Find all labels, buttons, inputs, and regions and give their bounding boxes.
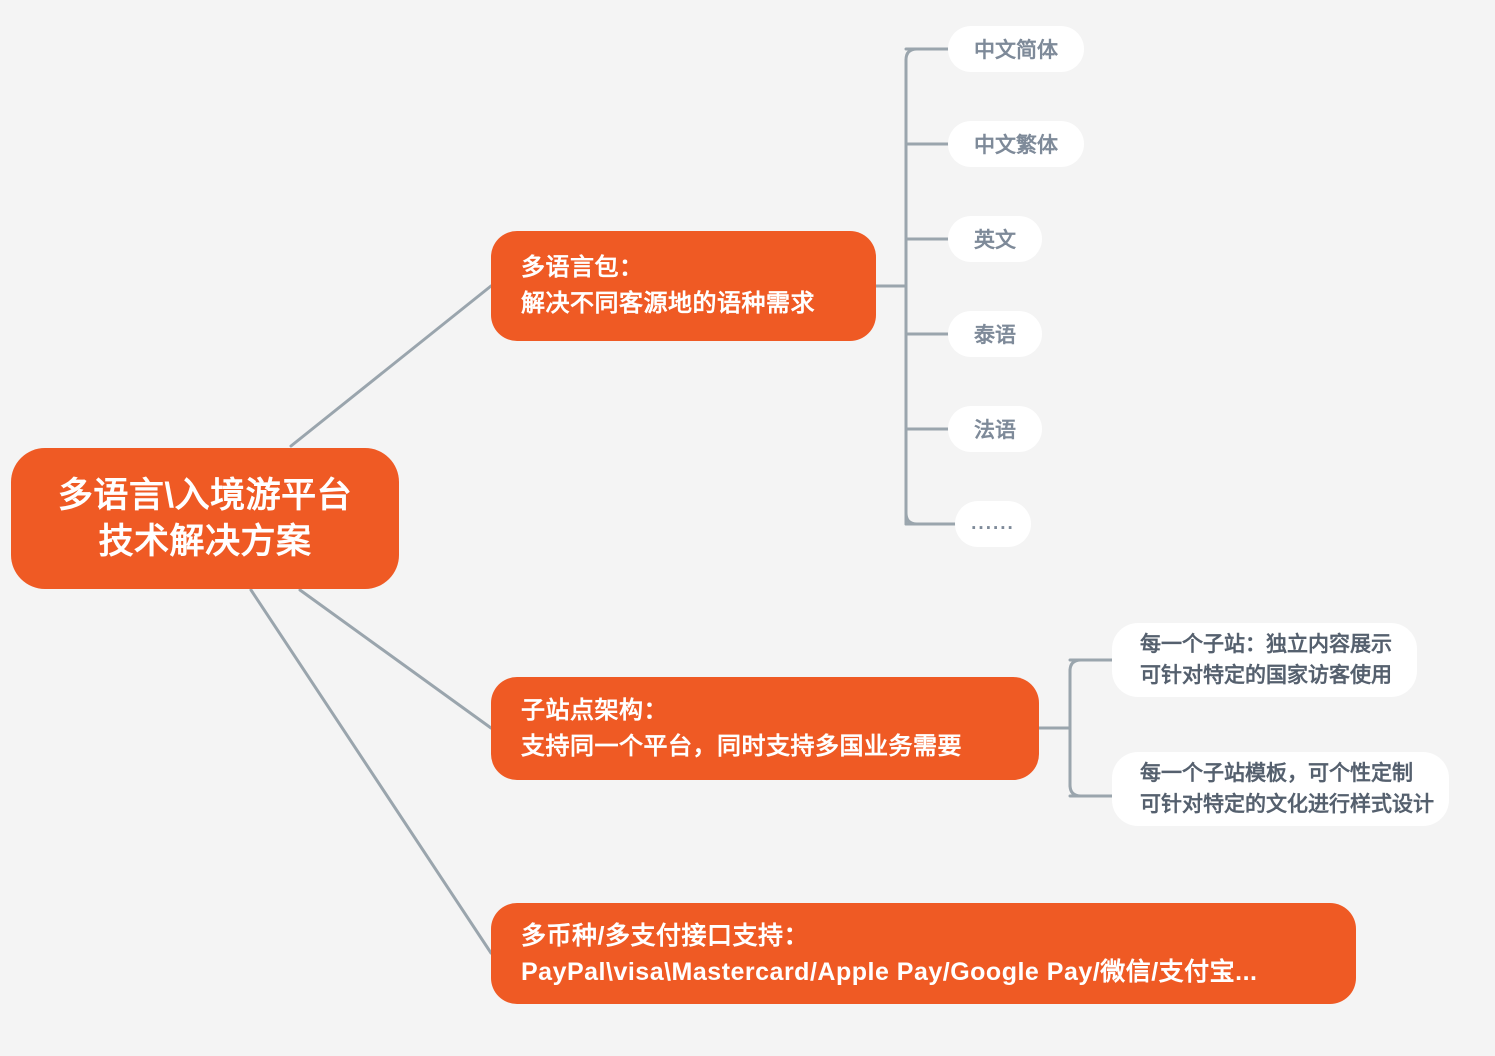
leaf-language-4-label: 泰语 (974, 319, 1016, 349)
leaf-language-6-label: ...... (971, 513, 1015, 535)
branch-node-payment[interactable]: 多币种/多支付接口支持： PayPal\visa\Mastercard/Appl… (491, 903, 1356, 1004)
root-node[interactable]: 多语言\入境游平台 技术解决方案 (11, 448, 399, 589)
edge-root-to-subsite (300, 590, 491, 728)
root-title-line2: 技术解决方案 (98, 519, 311, 565)
edge-languages-trunk-bottom (906, 513, 917, 524)
branch-payment-line1: 多币种/多支付接口支持： (521, 918, 1326, 954)
leaf-language-1-label: 中文简体 (974, 34, 1058, 64)
leaf-subsite-card-2-line1: 每一个子站模板，可个性定制 (1140, 758, 1421, 789)
branch-node-languages[interactable]: 多语言包： 解决不同客源地的语种需求 (491, 231, 876, 341)
leaf-subsite-card-2[interactable]: 每一个子站模板，可个性定制 可针对特定的文化进行样式设计 (1112, 752, 1449, 826)
edge-subsite-trunk-bottom (1070, 785, 1081, 796)
branch-languages-line1: 多语言包： (521, 250, 846, 286)
branch-languages-line2: 解决不同客源地的语种需求 (521, 286, 846, 322)
edge-languages-trunk-top (906, 49, 917, 60)
leaf-language-6[interactable]: ...... (955, 501, 1031, 547)
branch-subsite-line2: 支持同一个平台，同时支持多国业务需要 (521, 729, 1009, 765)
mindmap-canvas: 多语言\入境游平台 技术解决方案 多语言包： 解决不同客源地的语种需求 中文简体… (0, 0, 1495, 1056)
leaf-language-2-label: 中文繁体 (974, 129, 1058, 159)
branch-payment-line2: PayPal\visa\Mastercard/Apple Pay/Google … (521, 954, 1326, 990)
branch-node-subsite[interactable]: 子站点架构： 支持同一个平台，同时支持多国业务需要 (491, 677, 1039, 780)
branch-subsite-line1: 子站点架构： (521, 693, 1009, 729)
edge-subsite-trunk-top (1070, 660, 1081, 671)
leaf-language-2[interactable]: 中文繁体 (948, 121, 1084, 167)
edge-root-to-payment (251, 590, 491, 953)
leaf-language-5[interactable]: 法语 (948, 406, 1042, 452)
leaf-subsite-card-1[interactable]: 每一个子站：独立内容展示 可针对特定的国家访客使用 (1112, 623, 1417, 697)
edge-root-to-languages (291, 286, 491, 446)
leaf-language-5-label: 法语 (974, 414, 1016, 444)
leaf-subsite-card-2-line2: 可针对特定的文化进行样式设计 (1140, 789, 1421, 820)
leaf-subsite-card-1-line2: 可针对特定的国家访客使用 (1140, 660, 1389, 691)
leaf-subsite-card-1-line1: 每一个子站：独立内容展示 (1140, 629, 1389, 660)
root-title-line1: 多语言\入境游平台 (58, 473, 352, 519)
leaf-language-3[interactable]: 英文 (948, 216, 1042, 262)
leaf-language-1[interactable]: 中文简体 (948, 26, 1084, 72)
leaf-language-4[interactable]: 泰语 (948, 311, 1042, 357)
leaf-language-3-label: 英文 (974, 224, 1016, 254)
